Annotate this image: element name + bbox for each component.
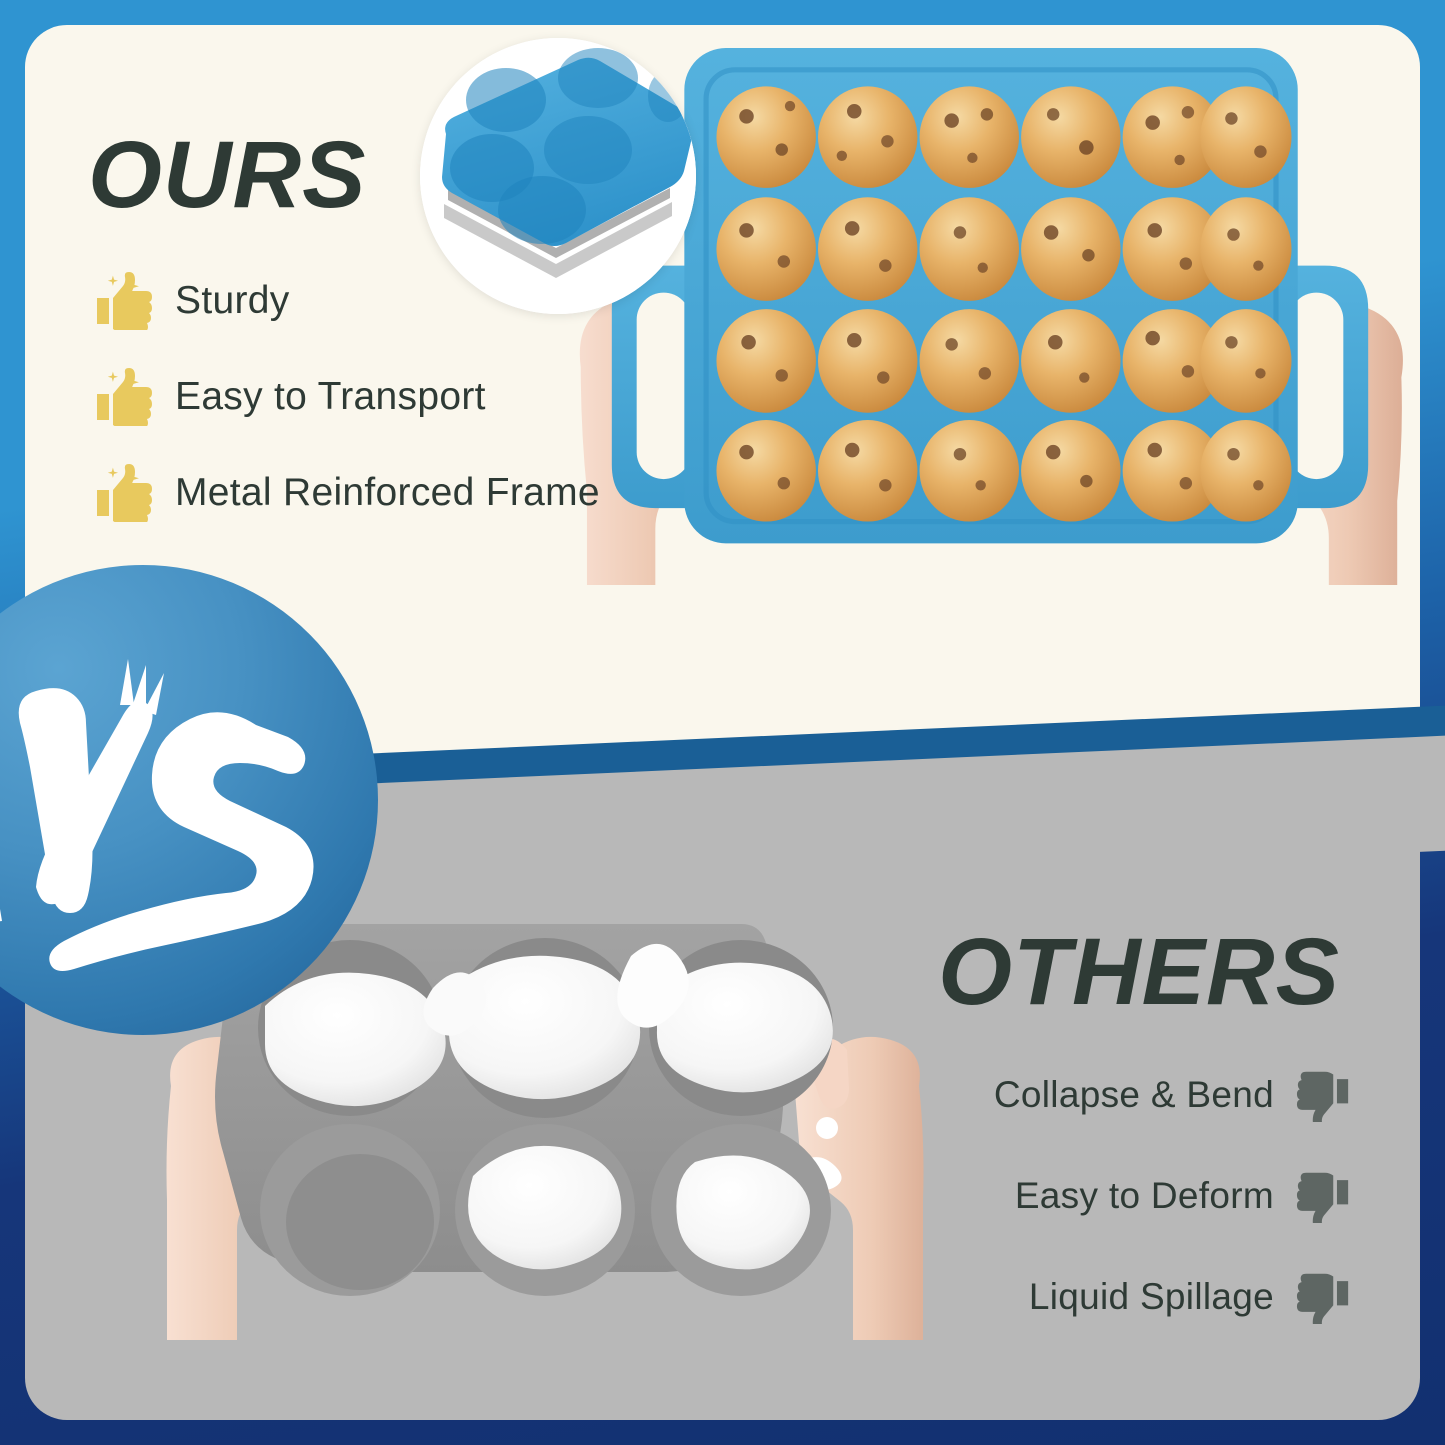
mold-cup: [260, 1124, 440, 1296]
list-item: Easy to Deform: [1015, 1169, 1350, 1223]
infographic-frame: OURS OTHERS Sturdy: [0, 0, 1445, 1445]
list-item-label: Collapse & Bend: [994, 1074, 1274, 1116]
muffin: [920, 86, 1019, 188]
thumbs-down-icon: [1296, 1270, 1350, 1324]
muffin: [818, 86, 917, 188]
muffin: [1021, 86, 1120, 188]
muffin: [920, 309, 1019, 413]
thumbs-down-icon: [1296, 1068, 1350, 1122]
list-item: Liquid Spillage: [1029, 1270, 1350, 1324]
vs-brush-lettering: [0, 565, 378, 1035]
vs-badge: [0, 565, 378, 1035]
list-item: Collapse & Bend: [994, 1068, 1350, 1122]
muffin: [818, 197, 917, 301]
muffin: [1021, 197, 1120, 301]
list-item-label: Liquid Spillage: [1029, 1276, 1274, 1318]
list-item: Easy to Transport: [95, 368, 600, 426]
list-item: Metal Reinforced Frame: [95, 464, 600, 522]
list-item-label: Metal Reinforced Frame: [175, 471, 600, 515]
tray-closeup-inset: [420, 38, 696, 314]
muffin: [1200, 197, 1291, 301]
muffin: [1200, 86, 1291, 188]
page-title-ours: OURS: [88, 128, 366, 223]
batter-droplet: [816, 1117, 838, 1139]
list-item-label: Easy to Deform: [1015, 1175, 1274, 1217]
thumbs-up-icon: [95, 272, 153, 330]
mold-cup: [455, 1124, 635, 1296]
muffin: [818, 309, 917, 413]
muffin: [716, 420, 815, 522]
muffin: [1200, 420, 1291, 522]
muffin: [920, 420, 1019, 522]
thumbs-down-icon: [1296, 1169, 1350, 1223]
list-item-label: Sturdy: [175, 279, 290, 323]
thumbs-up-icon: [95, 464, 153, 522]
muffin: [818, 420, 917, 522]
muffin: [716, 86, 815, 188]
blue-muffin-tray-image: [560, 25, 1420, 585]
others-feature-list: Collapse & Bend Easy to Deform Liqui: [994, 1068, 1350, 1324]
muffin: [1200, 309, 1291, 413]
muffin: [716, 197, 815, 301]
muffin: [920, 197, 1019, 301]
muffin: [1021, 420, 1120, 522]
thumbs-up-icon: [95, 368, 153, 426]
list-item-label: Easy to Transport: [175, 375, 486, 419]
muffin: [716, 309, 815, 413]
mold-cup: [651, 1124, 831, 1296]
page-title-others: OTHERS: [938, 925, 1340, 1020]
muffin: [1021, 309, 1120, 413]
